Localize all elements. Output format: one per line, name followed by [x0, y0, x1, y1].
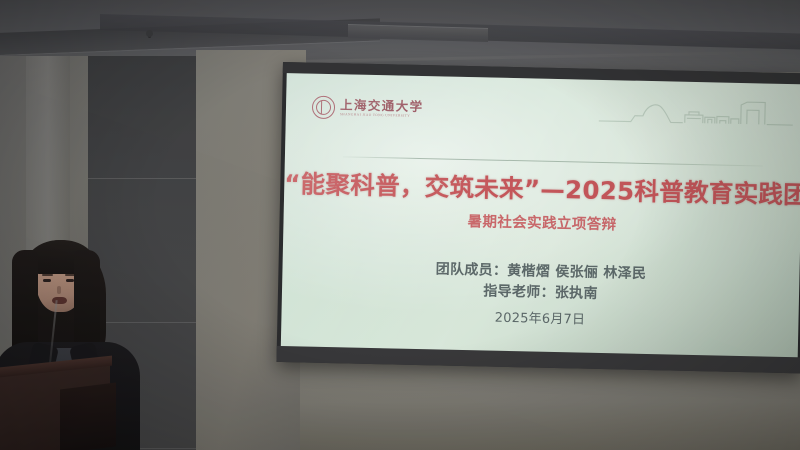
podium-front-panel — [60, 383, 116, 450]
mouth — [52, 297, 67, 304]
sjtu-seal-icon — [312, 96, 335, 119]
university-logo: 上海交通大学 SHANGHAI JIAO TONG UNIVERSITY — [312, 96, 424, 121]
university-name-cn: 上海交通大学 — [340, 99, 424, 113]
lecture-room: 上海交通大学 SHANGHAI JIAO TONG UNIVERSITY — [0, 0, 800, 450]
presentation-slide: 上海交通大学 SHANGHAI JIAO TONG UNIVERSITY — [281, 73, 800, 357]
university-wordmark: 上海交通大学 SHANGHAI JIAO TONG UNIVERSITY — [340, 99, 424, 118]
eye-right — [66, 279, 74, 282]
projection-screen: 上海交通大学 SHANGHAI JIAO TONG UNIVERSITY — [276, 62, 800, 373]
eye-left — [43, 279, 51, 282]
eyebrow-left — [42, 274, 53, 276]
slide-meta-block: 团队成员：黄楷熠 侯张俪 林泽民 指导老师：张执南 2025年6月7日 — [281, 256, 799, 335]
campus-skyline-icon — [597, 94, 798, 132]
slide-date: 2025年6月7日 — [281, 303, 798, 335]
university-name-en: SHANGHAI JIAO TONG UNIVERSITY — [340, 113, 423, 118]
screenshot-root: 上海交通大学 SHANGHAI JIAO TONG UNIVERSITY — [0, 0, 800, 450]
slide-title: “能聚科普，交筑未来”—2025科普教育实践团 — [284, 165, 800, 211]
slide-divider — [343, 156, 763, 166]
wall-seam — [88, 178, 200, 179]
nose — [57, 286, 61, 294]
slide-subtitle: 暑期社会实践立项答辩 — [283, 206, 800, 238]
sprinkler-icon — [146, 30, 153, 37]
